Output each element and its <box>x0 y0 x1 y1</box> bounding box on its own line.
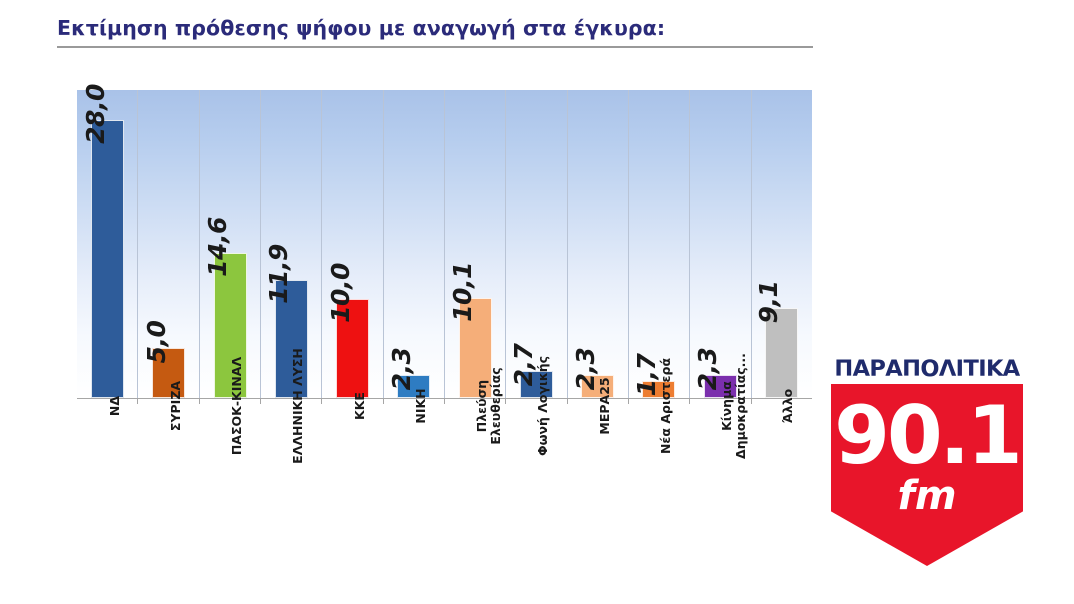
bar-series-layer: 28,05,014,611,910,02,310,12,72,31,72,39,… <box>77 90 812 398</box>
bar-ΚΚΕ[interactable] <box>336 299 369 398</box>
parapolitika-logo: ΠΑΡΑΠΟΛΙΤΙΚΑ 90.1 fm <box>826 358 1028 566</box>
page-title: Εκτίμηση πρόθεσης ψήφου με αναγωγή στα έ… <box>57 16 813 42</box>
category-label-ΣΥΡΙΖΑ: ΣΥΡΙΖΑ <box>169 381 183 431</box>
bar-Άλλο[interactable] <box>765 308 798 398</box>
label-slot: Φωνή Λογικής <box>506 406 567 536</box>
x-axis-ticks <box>77 398 812 404</box>
chart-plot-area: 28,05,014,611,910,02,310,12,72,31,72,39,… <box>77 90 812 398</box>
category-label-ΕΛΛΗΝΙΚΗ ΛΥΣΗ: ΕΛΛΗΝΙΚΗ ΛΥΣΗ <box>291 348 305 464</box>
label-slot: ΠλεύσηΕλευθερίας <box>445 406 506 536</box>
label-slot: ΚίνημαΔημοκρατίας... <box>690 406 751 536</box>
category-label-Άλλο: Άλλο <box>781 389 795 423</box>
label-slot: ΜΕΡΑ25 <box>567 406 628 536</box>
category-label-ΜΕΡΑ25: ΜΕΡΑ25 <box>598 377 612 434</box>
logo-band: fm <box>831 476 1023 516</box>
label-slot: ΠΑΣΟΚ-ΚΙΝΑΛ <box>200 406 261 536</box>
category-label-ΝΙΚΗ: ΝΙΚΗ <box>414 388 428 423</box>
title-block: Εκτίμηση πρόθεσης ψήφου με αναγωγή στα έ… <box>57 16 813 48</box>
x-axis-category-labels: ΝΔΣΥΡΙΖΑΠΑΣΟΚ-ΚΙΝΑΛΕΛΛΗΝΙΚΗ ΛΥΣΗΚΚΕΝΙΚΗΠ… <box>77 406 812 536</box>
category-label-ΠΑΣΟΚ-ΚΙΝΑΛ: ΠΑΣΟΚ-ΚΙΝΑΛ <box>230 357 244 455</box>
category-label-ΚΚΕ: ΚΚΕ <box>353 392 367 420</box>
category-label-Φωνή Λογικής: Φωνή Λογικής <box>536 356 550 456</box>
bar-slot: 14,6 <box>200 90 261 398</box>
bar-slot: 2,3 <box>383 90 444 398</box>
label-slot: ΣΥΡΙΖΑ <box>138 406 199 536</box>
bar-slot: 28,0 <box>77 90 138 398</box>
logo-frequency: 90.1 <box>831 396 1023 476</box>
label-slot: ΕΛΛΗΝΙΚΗ ΛΥΣΗ <box>261 406 322 536</box>
category-label-ΝΔ: ΝΔ <box>108 396 122 416</box>
bar-slot: 2,3 <box>567 90 628 398</box>
title-divider <box>57 46 813 48</box>
category-label-Νέα Αριστερά: Νέα Αριστερά <box>659 358 673 454</box>
bar-slot: 5,0 <box>138 90 199 398</box>
bar-ΝΔ[interactable] <box>91 120 124 398</box>
category-label-Πλεύση Ελευθερίας: ΠλεύσηΕλευθερίας <box>475 346 504 466</box>
bar-slot: 9,1 <box>751 90 812 398</box>
label-slot: ΝΔ <box>77 406 138 536</box>
logo-shield-shape: 90.1 fm <box>831 384 1023 566</box>
category-label-Κίνημα Δημοκρατίας...: ΚίνημαΔημοκρατίας... <box>720 346 749 466</box>
bar-slot: 2,7 <box>506 90 567 398</box>
label-slot: ΝΙΚΗ <box>383 406 444 536</box>
logo-wordmark: ΠΑΡΑΠΟΛΙΤΙΚΑ <box>826 358 1028 381</box>
label-slot: Νέα Αριστερά <box>628 406 689 536</box>
bar-slot: 10,0 <box>322 90 383 398</box>
bar-slot: 1,7 <box>628 90 689 398</box>
label-slot: Άλλο <box>751 406 812 536</box>
label-slot: ΚΚΕ <box>322 406 383 536</box>
